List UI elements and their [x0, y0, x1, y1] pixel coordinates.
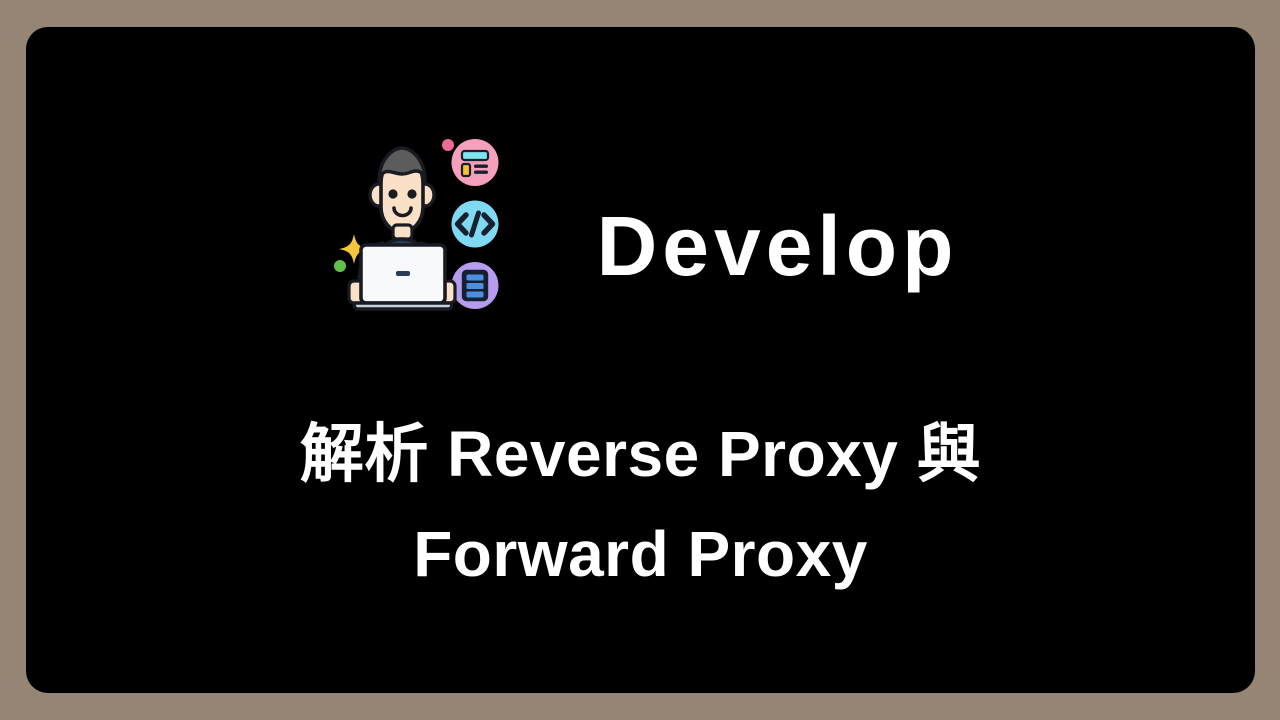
post-title-line-1: 解析 Reverse Proxy 與: [96, 405, 1185, 505]
green-dot-sparkle: [334, 260, 346, 272]
post-title: 解析 Reverse Proxy 與 Forward Proxy: [96, 405, 1185, 605]
layout-wireframe-icon: [451, 139, 498, 186]
post-title-line-2: Forward Proxy: [96, 505, 1185, 605]
server-stack-icon: [451, 262, 498, 309]
hero-row: Develop: [26, 129, 1255, 359]
category-label: Develop: [597, 204, 959, 288]
code-tag-icon: [451, 201, 498, 248]
developer-at-laptop-illustration: [323, 129, 553, 359]
pink-dot-sparkle: [442, 139, 454, 151]
thumbnail-card: Develop 解析 Reverse Proxy 與 Forward Proxy: [26, 27, 1255, 693]
